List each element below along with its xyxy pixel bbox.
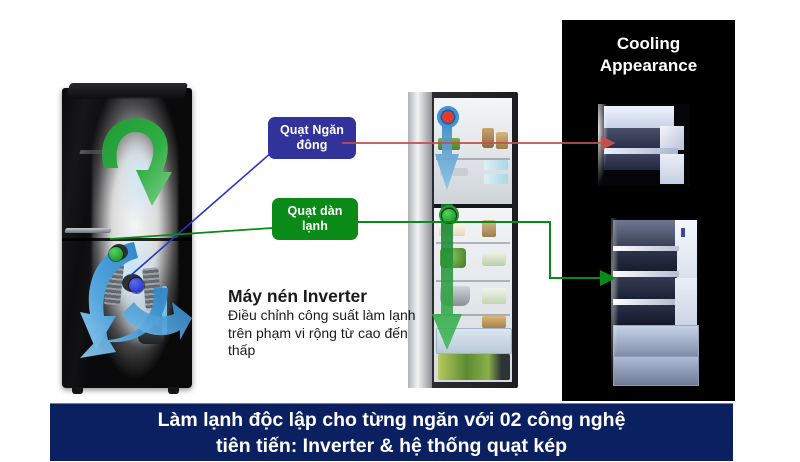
fridge-item-bread [482,316,506,328]
fridge-top-panel [66,83,188,99]
fridge-item-container [482,288,506,304]
freezer-item-jar-b [496,132,508,149]
blue-airflow-arrow [76,218,192,378]
callout-coil-fan-line2: lạnh [280,219,350,234]
door-split-line [62,238,192,241]
callout-freezer-fan[interactable]: Quạt Ngăn đông [268,117,356,159]
banner-line1: Làm lạnh độc lập cho từng ngăn với 02 cô… [50,407,733,433]
foot-left [72,387,83,394]
green-airflow-arrow [86,106,186,221]
callout-coil-fan-line1: Quạt dàn [280,204,350,219]
freezer-item-jar-a [482,128,494,148]
slide-canvas: Cooling Appearance Quạt Ngăn đông Quạt d… [0,0,800,462]
cutaway-refrigerator [62,88,192,388]
fridge-item-bowl [482,252,506,266]
banner-line2: tiên tiến: Inverter & hệ thống quạt kép [50,433,733,459]
panel-title: Cooling Appearance [562,33,735,77]
inverter-description: Điều chỉnh công suất làm lạnh trên phạm … [228,307,416,360]
crisper-vegetables [438,354,510,380]
fridge-compartment-photo [611,218,699,386]
freezer-compartment-photo [598,104,690,186]
inverter-title: Máy nén Inverter [228,286,367,307]
coil-fan-marker-green [442,209,456,223]
stocked-refrigerator [408,92,518,388]
brand-logo [79,150,110,154]
coil-fan-marker [109,247,123,261]
freezer-item-box-b [484,174,508,184]
callout-coil-fan[interactable]: Quạt dàn lạnh [272,198,358,240]
fridge-item-jar [482,220,496,237]
freezer-item-box-a [484,160,508,170]
panel-title-line1: Cooling [562,33,735,55]
callout-freezer-fan-line2: đông [276,138,348,153]
freezer-fan-marker [129,278,144,293]
panel-title-line2: Appearance [562,55,735,77]
door-handle [64,228,111,233]
bottom-banner: Làm lạnh độc lập cho từng ngăn với 02 cô… [50,403,733,461]
foot-right [168,387,179,394]
freezer-fan-marker-red [442,111,454,123]
fridge-airflow-arrow [432,204,462,352]
callout-freezer-fan-line1: Quạt Ngăn [276,123,348,138]
